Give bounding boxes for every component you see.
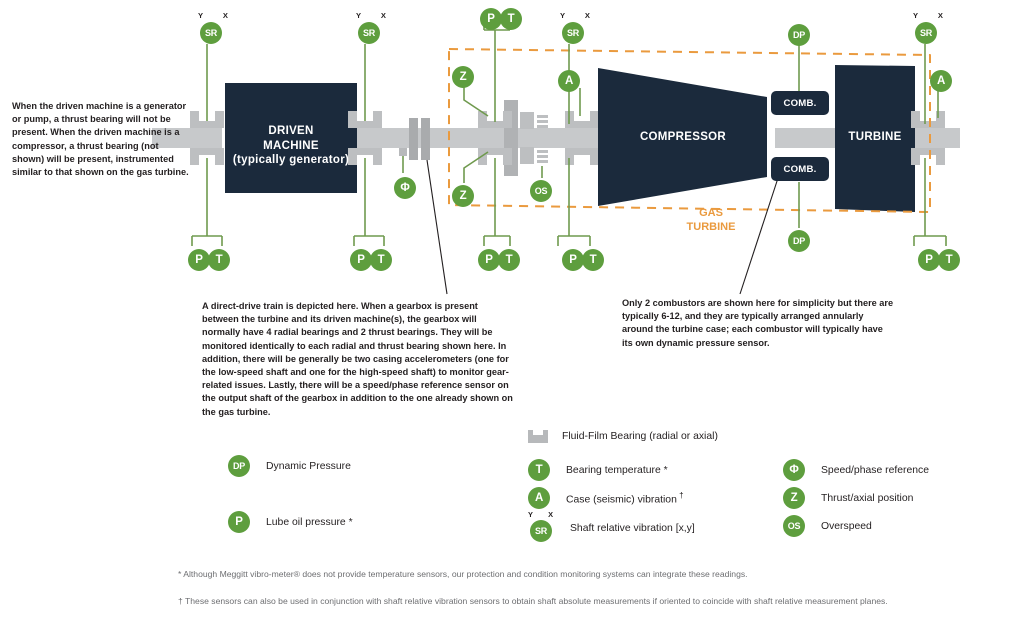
sensor-badge-pt-top-left: P	[480, 8, 502, 30]
sensor-t-turbine-exhaust[interactable]: T	[938, 249, 960, 271]
sensor-badge-p-driven-outboard: P	[350, 249, 372, 271]
legend-item-dynamic-pressure[interactable]: DPDynamic Pressure	[228, 455, 351, 477]
thrust-axial-position-icon: Z	[783, 487, 805, 509]
sensor-t-driven-inboard[interactable]: T	[208, 249, 230, 271]
footnote-dagger: † These sensors can also be used in conj…	[178, 595, 1018, 607]
legend-label-speed-phase-reference: Speed/phase reference	[821, 465, 929, 476]
legend-item-lube-oil-pressure[interactable]: PLube oil pressure *	[228, 511, 353, 533]
legend-label-overspeed: Overspeed	[821, 521, 872, 532]
footnote-asterisk: * Although Meggitt vibro-meter® does not…	[178, 568, 1008, 580]
sensor-badge-p-gearbox-left: P	[478, 249, 500, 271]
sensor-badge-t-gearbox-left: T	[498, 249, 520, 271]
sensor-t-driven-outboard[interactable]: T	[370, 249, 392, 271]
sensor-badge-dp-combustor-lower: DP	[788, 230, 810, 252]
sensor-badge-case-vib-exhaust: A	[930, 70, 952, 92]
bearing-temperature-icon: T	[528, 459, 550, 481]
combustor-lower: COMB.	[771, 157, 829, 181]
legend-label-bearing-temperature: Bearing temperature *	[566, 465, 668, 476]
legend-item-overspeed[interactable]: OSOverspeed	[783, 515, 872, 537]
diagram-canvas: DRIVEN MACHINE (typically generator) COM…	[0, 0, 1024, 618]
turbine-body	[835, 65, 915, 212]
gas-turbine-boundary-label: GAS TURBINE	[672, 207, 750, 234]
sensor-overspeed[interactable]: OS	[530, 180, 552, 202]
sensor-badge-pt-top-right: T	[500, 8, 522, 30]
sensor-badge-thrust-axial-lower: Z	[452, 185, 474, 207]
sensor-t-gt-compressor[interactable]: T	[582, 249, 604, 271]
sensor-p-gearbox-left[interactable]: P	[478, 249, 500, 271]
case-seismic-vibration-icon: A	[528, 487, 550, 509]
speed-phase-reference-icon: Φ	[783, 459, 805, 481]
sensor-sr-gt-compressor[interactable]: YXSR	[562, 22, 584, 44]
legend-item-case-seismic-vibration[interactable]: ACase (seismic) vibration †	[528, 487, 684, 509]
note-combustors: Only 2 combustors are shown here for sim…	[622, 297, 894, 350]
legend-item-bearing-temperature[interactable]: TBearing temperature *	[528, 459, 668, 481]
legend-label-fluid-film-bearing: Fluid-Film Bearing (radial or axial)	[562, 431, 718, 442]
sensor-t-gearbox-left[interactable]: T	[498, 249, 520, 271]
fluid-film-bearing-icon	[528, 430, 548, 443]
sensor-p-driven-inboard[interactable]: P	[188, 249, 210, 271]
combustor-upper-label: COMB.	[784, 98, 817, 109]
sensor-dp-combustor-upper[interactable]: DP	[788, 24, 810, 46]
sensor-case-vib-compressor[interactable]: A	[558, 70, 580, 92]
sensor-badge-sr-driven-outboard: SR	[358, 22, 380, 44]
sensor-sr-driven-outboard[interactable]: YXSR	[358, 22, 380, 44]
sensor-p-driven-outboard[interactable]: P	[350, 249, 372, 271]
sensor-badge-dp-combustor-upper: DP	[788, 24, 810, 46]
legend-item-speed-phase-reference[interactable]: ΦSpeed/phase reference	[783, 459, 929, 481]
lube-oil-pressure-icon: P	[228, 511, 250, 533]
sensor-sr-driven-inboard[interactable]: YXSR	[200, 22, 222, 44]
sensor-pt-top-left[interactable]: P	[480, 8, 502, 30]
legend-label-lube-oil-pressure: Lube oil pressure *	[266, 517, 353, 528]
sensor-badge-case-vib-compressor: A	[558, 70, 580, 92]
sensor-badge-t-driven-inboard: T	[208, 249, 230, 271]
legend-sup-case-seismic-vibration: †	[677, 491, 684, 500]
driven-machine-body	[225, 83, 357, 193]
sensor-badge-t-turbine-exhaust: T	[938, 249, 960, 271]
sensor-badge-thrust-axial-upper: Z	[452, 66, 474, 88]
sensor-dp-combustor-lower[interactable]: DP	[788, 230, 810, 252]
legend-label-dynamic-pressure: Dynamic Pressure	[266, 461, 351, 472]
sensor-p-gt-compressor[interactable]: P	[562, 249, 584, 271]
sensor-case-vib-exhaust[interactable]: A	[930, 70, 952, 92]
sensor-sr-turbine-exhaust[interactable]: YXSR	[915, 22, 937, 44]
note-gearbox: A direct-drive train is depicted here. W…	[202, 300, 514, 419]
shaft-relative-icon: YXSR	[528, 515, 554, 541]
sensor-badge-overspeed: OS	[530, 180, 552, 202]
legend-label-thrust-axial-position: Thrust/axial position	[821, 493, 913, 504]
combustor-lower-label: COMB.	[784, 164, 817, 175]
compressor-body	[598, 68, 767, 206]
sensor-badge-t-gt-compressor: T	[582, 249, 604, 271]
combustor-upper: COMB.	[771, 91, 829, 115]
legend-label-case-seismic-vibration: Case (seismic) vibration †	[566, 491, 684, 505]
legend: DPDynamic PressurePLube oil pressure * F…	[0, 425, 1024, 545]
overspeed-icon: OS	[783, 515, 805, 537]
sensor-thrust-axial-upper[interactable]: Z	[452, 66, 474, 88]
sensor-badge-sr-gt-compressor: SR	[562, 22, 584, 44]
sensor-p-turbine-exhaust[interactable]: P	[918, 249, 940, 271]
legend-item-thrust-axial-position[interactable]: ZThrust/axial position	[783, 487, 913, 509]
sensor-badge-t-driven-outboard: T	[370, 249, 392, 271]
legend-item-shaft-relative-vibration[interactable]: YXSRShaft relative vibration [x,y]	[528, 515, 695, 541]
sensor-badge-p-driven-inboard: P	[188, 249, 210, 271]
legend-label-shaft-relative-vibration: Shaft relative vibration [x,y]	[570, 523, 695, 534]
sensor-badge-phase-ref-coupling: Φ	[394, 177, 416, 199]
note-driven-machine: When the driven machine is a generator o…	[12, 100, 192, 179]
sensor-badge-sr-driven-inboard: SR	[200, 22, 222, 44]
legend-item-fluid-film-bearing[interactable]: Fluid-Film Bearing (radial or axial)	[528, 430, 718, 443]
sensor-phase-ref-coupling[interactable]: Φ	[394, 177, 416, 199]
sensor-badge-sr-turbine-exhaust: SR	[915, 22, 937, 44]
sensor-pt-top-right[interactable]: T	[500, 8, 522, 30]
sensor-thrust-axial-lower[interactable]: Z	[452, 185, 474, 207]
sensor-badge-p-gt-compressor: P	[562, 249, 584, 271]
sensor-badge-p-turbine-exhaust: P	[918, 249, 940, 271]
dynamic-pressure-icon: DP	[228, 455, 250, 477]
